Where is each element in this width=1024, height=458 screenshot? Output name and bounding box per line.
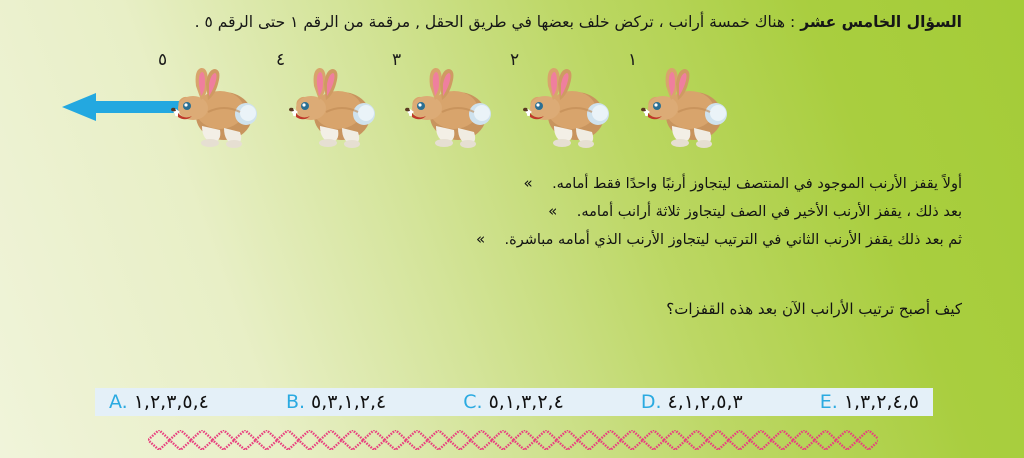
- question-prompt: كيف أصبح ترتيب الأرانب الآن بعد هذه القف…: [300, 300, 962, 318]
- answer-value: ١,٣,٢,٤,٥: [844, 391, 919, 413]
- rabbit-icon: [638, 64, 730, 148]
- rabbit-5: ٥: [156, 48, 264, 148]
- answer-value: ١,٢,٣,٥,٤: [134, 391, 209, 413]
- list-item-text: ثم بعد ذلك يقفز الأرنب الثاني في الترتيب…: [505, 227, 962, 254]
- bullet-marker-icon: »: [504, 170, 552, 197]
- worksheet-page: السؤال الخامس عشر : هناك خمسة أرانب ، تر…: [0, 0, 1024, 458]
- bullet-marker-icon: »: [529, 198, 577, 225]
- instruction-list: أولاً يقفز الأرنب الموجود في المنتصف ليت…: [300, 170, 962, 254]
- rabbit-number-label: ٢: [510, 50, 519, 70]
- answer-value: ٥,١,٣,٢,٤: [489, 391, 564, 413]
- rabbit-number-label: ٥: [158, 50, 167, 70]
- rabbit-icon: [520, 64, 612, 148]
- rabbit-icon: [402, 64, 494, 148]
- answer-letter: C.: [463, 391, 482, 413]
- question-statement: : هناك خمسة أرانب ، تركض خلف بعضها في طر…: [195, 13, 801, 31]
- bullet-marker-icon: »: [457, 226, 505, 253]
- answer-letter: D.: [641, 391, 662, 413]
- answer-letter: B.: [286, 391, 305, 413]
- question-number-label: السؤال الخامس عشر: [800, 13, 962, 31]
- rabbit-number-label: ١: [628, 50, 637, 70]
- page-title: السؤال الخامس عشر : هناك خمسة أرانب ، تر…: [140, 12, 962, 33]
- rabbit-4: ٤: [274, 48, 382, 148]
- list-item: ثم بعد ذلك يقفز الأرنب الثاني في الترتيب…: [300, 226, 962, 254]
- rabbit-number-label: ٤: [276, 50, 285, 70]
- rabbit-icon: [168, 64, 260, 148]
- answer-letter: A.: [109, 391, 128, 413]
- answer-option-d[interactable]: D. ٤,١,٢,٥,٣: [641, 391, 743, 413]
- answer-option-e[interactable]: E. ١,٣,٢,٤,٥: [820, 391, 919, 413]
- rabbit-number-label: ٣: [392, 50, 401, 70]
- rabbit-2: ٢: [508, 48, 616, 148]
- answer-options-bar: A. ١,٢,٣,٥,٤ B. ٥,٣,١,٢,٤ C. ٥,١,٣,٢,٤ D…: [95, 388, 933, 416]
- answer-letter: E.: [820, 391, 838, 413]
- rabbit-row: ١: [180, 48, 734, 148]
- rabbit-3: ٣: [390, 48, 498, 148]
- answer-value: ٤,١,٢,٥,٣: [668, 391, 743, 413]
- answer-option-b[interactable]: B. ٥,٣,١,٢,٤: [286, 391, 386, 413]
- decorative-diamond-border: [148, 430, 878, 450]
- list-item: بعد ذلك ، يقفز الأرنب الأخير في الصف ليت…: [300, 198, 962, 226]
- answer-value: ٥,٣,١,٢,٤: [311, 391, 386, 413]
- list-item-text: أولاً يقفز الأرنب الموجود في المنتصف ليت…: [552, 171, 962, 198]
- rabbit-1: ١: [626, 48, 734, 148]
- answer-option-a[interactable]: A. ١,٢,٣,٥,٤: [109, 391, 209, 413]
- answer-option-c[interactable]: C. ٥,١,٣,٢,٤: [463, 391, 564, 413]
- rabbit-icon: [286, 64, 378, 148]
- list-item-text: بعد ذلك ، يقفز الأرنب الأخير في الصف ليت…: [577, 199, 962, 226]
- list-item: أولاً يقفز الأرنب الموجود في المنتصف ليت…: [300, 170, 962, 198]
